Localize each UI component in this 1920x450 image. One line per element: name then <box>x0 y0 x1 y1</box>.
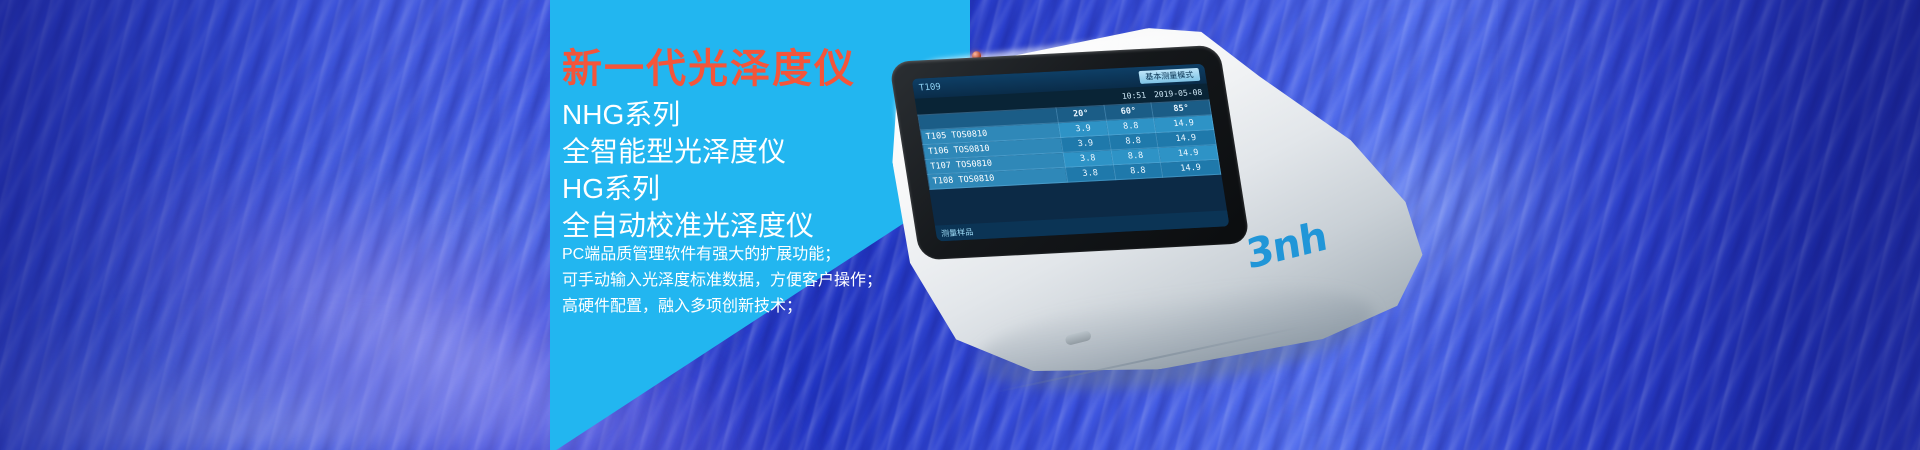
screen-title: T109 <box>918 82 941 93</box>
device-screen: T109 基本测量模式 10:51 2019-05-08 20° 60° <box>912 64 1230 242</box>
device-screen-bezel: T109 基本测量模式 10:51 2019-05-08 20° 60° <box>889 45 1251 260</box>
screen-date: 2019-05-08 <box>1153 87 1203 98</box>
background-vignette-left <box>0 0 499 450</box>
value-20deg: 3.8 <box>1065 165 1115 182</box>
screen-time: 10:51 <box>1121 90 1147 100</box>
product-banner: 新一代光泽度仪 NHG系列 全智能型光泽度仪 HG系列 全自动校准光泽度仪 PC… <box>0 0 1920 450</box>
screen-footer-label: 测量样品 <box>940 226 974 239</box>
screen-mode-badge[interactable]: 基本测量模式 <box>1138 67 1200 83</box>
device-body: T109 基本测量模式 10:51 2019-05-08 20° 60° <box>880 0 1440 418</box>
gloss-meter-device: T109 基本测量模式 10:51 2019-05-08 20° 60° <box>860 10 1480 430</box>
page-title: 新一代光泽度仪 <box>562 47 856 91</box>
measurement-table: 20° 60° 85° T105 TOS0810 3.9 8.8 14.9 <box>917 99 1221 190</box>
value-60deg: 8.8 <box>1113 162 1163 179</box>
value-85deg: 14.9 <box>1161 159 1221 177</box>
screen-footer[interactable]: 测量样品 <box>935 210 1230 242</box>
background-vignette-right <box>1498 0 1920 450</box>
